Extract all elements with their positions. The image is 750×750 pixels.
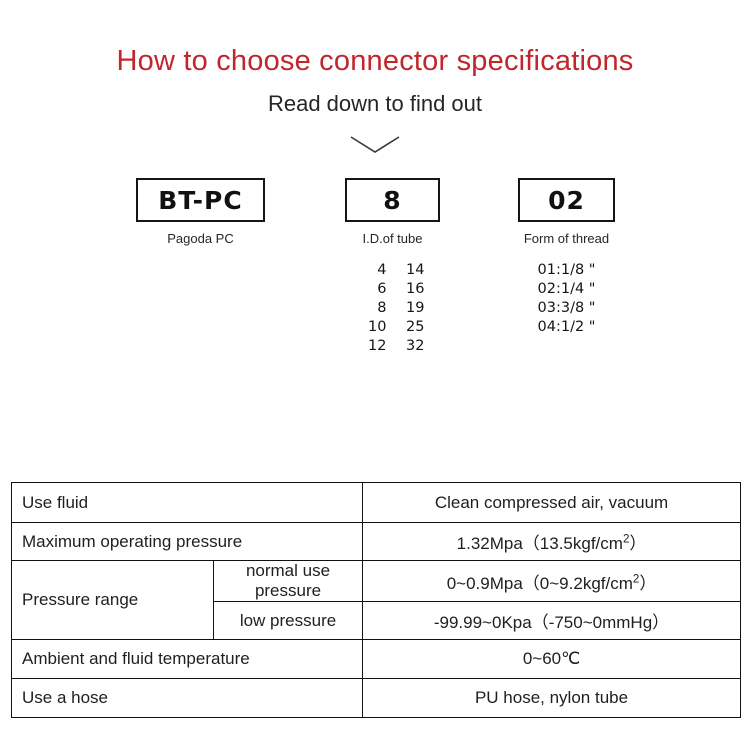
chevron-down-icon — [348, 134, 402, 156]
specification-table-wrap: Use fluid Clean compressed air, vacuum M… — [11, 482, 740, 718]
table-row: Use fluid Clean compressed air, vacuum — [12, 483, 741, 523]
page-title: How to choose connector specifications — [0, 46, 750, 78]
spec-value-max-pressure: 1.32Mpa（13.5kgf/cm2） — [363, 523, 741, 561]
spec-value-low-pressure: -99.99~0Kpa（-750~0mmHg） — [363, 602, 741, 640]
code-column-thread: 02 Form of thread 01:1/8 " 02:1/4 " 03:3… — [518, 178, 615, 337]
tube-id-option-b: 19 — [399, 299, 425, 318]
page-subtitle: Read down to find out — [0, 92, 750, 116]
table-row: Maximum operating pressure 1.32Mpa（13.5k… — [12, 523, 741, 561]
spec-value-temperature: 0~60℃ — [363, 640, 741, 679]
list-item: 12 32 — [345, 337, 440, 356]
chevron-down-icon-wrap — [0, 134, 750, 160]
list-item: 04:1/2 " — [518, 318, 615, 337]
tube-id-option-a: 4 — [361, 261, 387, 280]
list-item: 10 25 — [345, 318, 440, 337]
spec-value-max-pressure-main: 1.32Mpa（13.5kgf/cm — [457, 534, 623, 553]
spec-label-temperature: Ambient and fluid temperature — [12, 640, 363, 679]
tube-id-option-b: 32 — [399, 337, 425, 356]
tube-id-option-list: 4 14 6 16 8 19 10 25 12 32 — [345, 261, 440, 356]
spec-value-normal-use-pressure: 0~0.9Mpa（0~9.2kgf/cm2） — [363, 561, 741, 602]
code-column-tube-id: 8 I.D.of tube 4 14 6 16 8 19 10 25 12 32 — [345, 178, 440, 356]
list-item: 03:3/8 " — [518, 299, 615, 318]
table-row: Ambient and fluid temperature 0~60℃ — [12, 640, 741, 679]
list-item: 6 16 — [345, 280, 440, 299]
spec-value-normal-tail: ） — [639, 574, 656, 593]
tube-id-option-b: 14 — [399, 261, 425, 280]
tube-id-option-a: 8 — [361, 299, 387, 318]
spec-sublabel-low-pressure: low pressure — [214, 602, 363, 640]
spec-sublabel-normal-use-pressure: normal use pressure — [214, 561, 363, 602]
code-caption-series: Pagoda PC — [136, 232, 265, 246]
table-row: Use a hose PU hose, nylon tube — [12, 679, 741, 718]
spec-label-use-fluid: Use fluid — [12, 483, 363, 523]
page-header: How to choose connector specifications R… — [0, 0, 750, 116]
list-item: 8 19 — [345, 299, 440, 318]
spec-value-normal-main: 0~0.9Mpa（0~9.2kgf/cm — [447, 574, 633, 593]
spec-value-hose: PU hose, nylon tube — [363, 679, 741, 718]
code-breakdown: BT-PC Pagoda PC 8 I.D.of tube 4 14 6 16 … — [0, 168, 750, 368]
code-column-series: BT-PC Pagoda PC — [136, 178, 265, 246]
table-row: Pressure range normal use pressure 0~0.9… — [12, 561, 741, 602]
list-item: 02:1/4 " — [518, 280, 615, 299]
spec-label-hose: Use a hose — [12, 679, 363, 718]
tube-id-option-a: 12 — [361, 337, 387, 356]
list-item: 4 14 — [345, 261, 440, 280]
spec-label-pressure-range: Pressure range — [12, 561, 214, 640]
spec-label-max-pressure: Maximum operating pressure — [12, 523, 363, 561]
tube-id-option-b: 25 — [399, 318, 425, 337]
specification-table: Use fluid Clean compressed air, vacuum M… — [11, 482, 741, 718]
code-box-series: BT-PC — [136, 178, 265, 222]
tube-id-option-a: 10 — [361, 318, 387, 337]
thread-option-list: 01:1/8 " 02:1/4 " 03:3/8 " 04:1/2 " — [518, 261, 615, 337]
tube-id-option-b: 16 — [399, 280, 425, 299]
spec-value-max-pressure-tail: ） — [629, 534, 646, 553]
list-item: 01:1/8 " — [518, 261, 615, 280]
code-box-tube-id: 8 — [345, 178, 440, 222]
code-box-thread: 02 — [518, 178, 615, 222]
spec-value-use-fluid: Clean compressed air, vacuum — [363, 483, 741, 523]
tube-id-option-a: 6 — [361, 280, 387, 299]
code-caption-thread: Form of thread — [518, 232, 615, 246]
code-caption-tube-id: I.D.of tube — [345, 232, 440, 246]
